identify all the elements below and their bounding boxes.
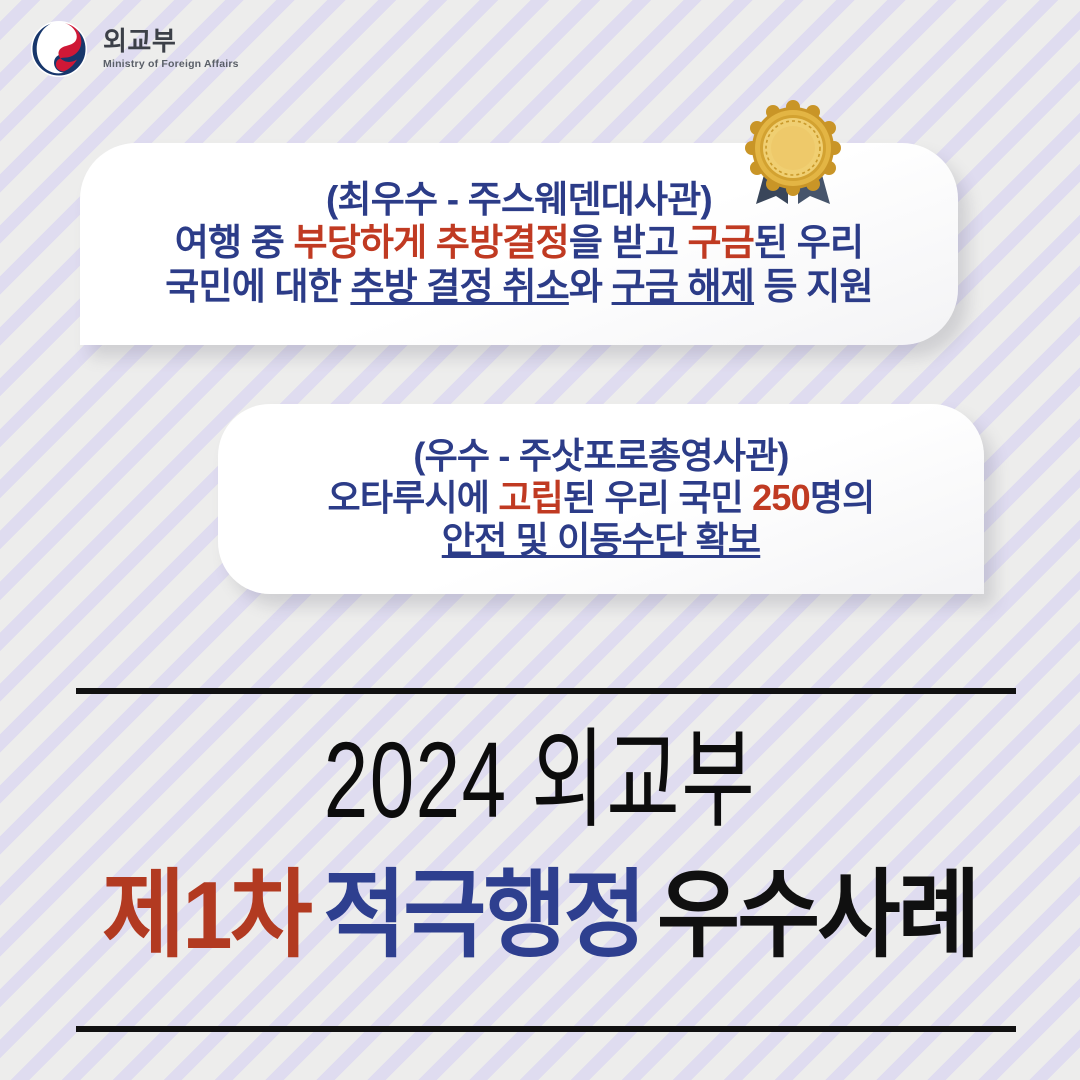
gold-award-medal-ribbon-icon bbox=[738, 100, 848, 210]
award-card-excellent: (우수 - 주삿포로총영사관) 오타루시에 고립된 우리 국민 250명의 안전… bbox=[218, 404, 984, 594]
text-run: 오타루시에 bbox=[328, 477, 499, 518]
text-run: 국민에 대한 bbox=[165, 266, 350, 307]
title-segment-topic: 적극행정 bbox=[323, 862, 644, 969]
text-run-highlight: 구금 bbox=[688, 222, 754, 263]
text-run: 된 우리 국민 bbox=[563, 477, 752, 518]
text-run: 와 bbox=[569, 266, 612, 307]
title-segment-round: 제1차 bbox=[102, 862, 310, 969]
divider-top bbox=[76, 688, 1016, 694]
text-run: 여행 중 bbox=[175, 222, 294, 263]
ministry-name-block: 외교부 Ministry of Foreign Affairs bbox=[103, 28, 239, 70]
text-run-highlight: 부당하게 추방결정 bbox=[293, 222, 568, 263]
divider-bottom bbox=[76, 1026, 1016, 1032]
text-run: 을 받고 bbox=[569, 222, 688, 263]
award-label-best: (최우수 - 주스웨덴대사관) bbox=[326, 178, 712, 221]
award-label-excellent: (우수 - 주삿포로총영사관) bbox=[413, 435, 788, 477]
ministry-name-ko: 외교부 bbox=[103, 28, 239, 54]
text-run: 된 우리 bbox=[754, 222, 863, 263]
text-run: 명의 bbox=[810, 477, 875, 518]
award-body-line-2: 국민에 대한 추방 결정 취소와 구금 해제 등 지원 bbox=[165, 265, 872, 308]
text-run-underline: 추방 결정 취소 bbox=[350, 266, 568, 307]
korea-government-taegeuk-logo-icon bbox=[28, 18, 90, 80]
award-body-line-1: 오타루시에 고립된 우리 국민 250명의 bbox=[328, 477, 875, 519]
text-run: 등 지원 bbox=[754, 266, 873, 307]
poster-canvas: 외교부 Ministry of Foreign Affairs (최우수 - 주… bbox=[0, 0, 1080, 1080]
ministry-name-en: Ministry of Foreign Affairs bbox=[103, 59, 239, 70]
poster-year-subtitle: 2024 외교부 bbox=[140, 726, 939, 834]
award-body-line-1: 여행 중 부당하게 추방결정을 받고 구금된 우리 bbox=[175, 221, 863, 264]
text-run-underline: 구금 해제 bbox=[612, 266, 754, 307]
award-body-line-2: 안전 및 이동수단 확보 bbox=[442, 519, 761, 561]
title-segment-category: 우수사례 bbox=[657, 862, 978, 969]
ministry-branding: 외교부 Ministry of Foreign Affairs bbox=[28, 18, 239, 80]
text-run-highlight: 고립 bbox=[498, 477, 563, 518]
text-run-underline: 안전 및 이동수단 확보 bbox=[442, 519, 761, 560]
text-run-highlight-count: 250 bbox=[752, 477, 810, 518]
poster-main-title: 제1차적극행정우수사례 bbox=[32, 868, 1047, 964]
